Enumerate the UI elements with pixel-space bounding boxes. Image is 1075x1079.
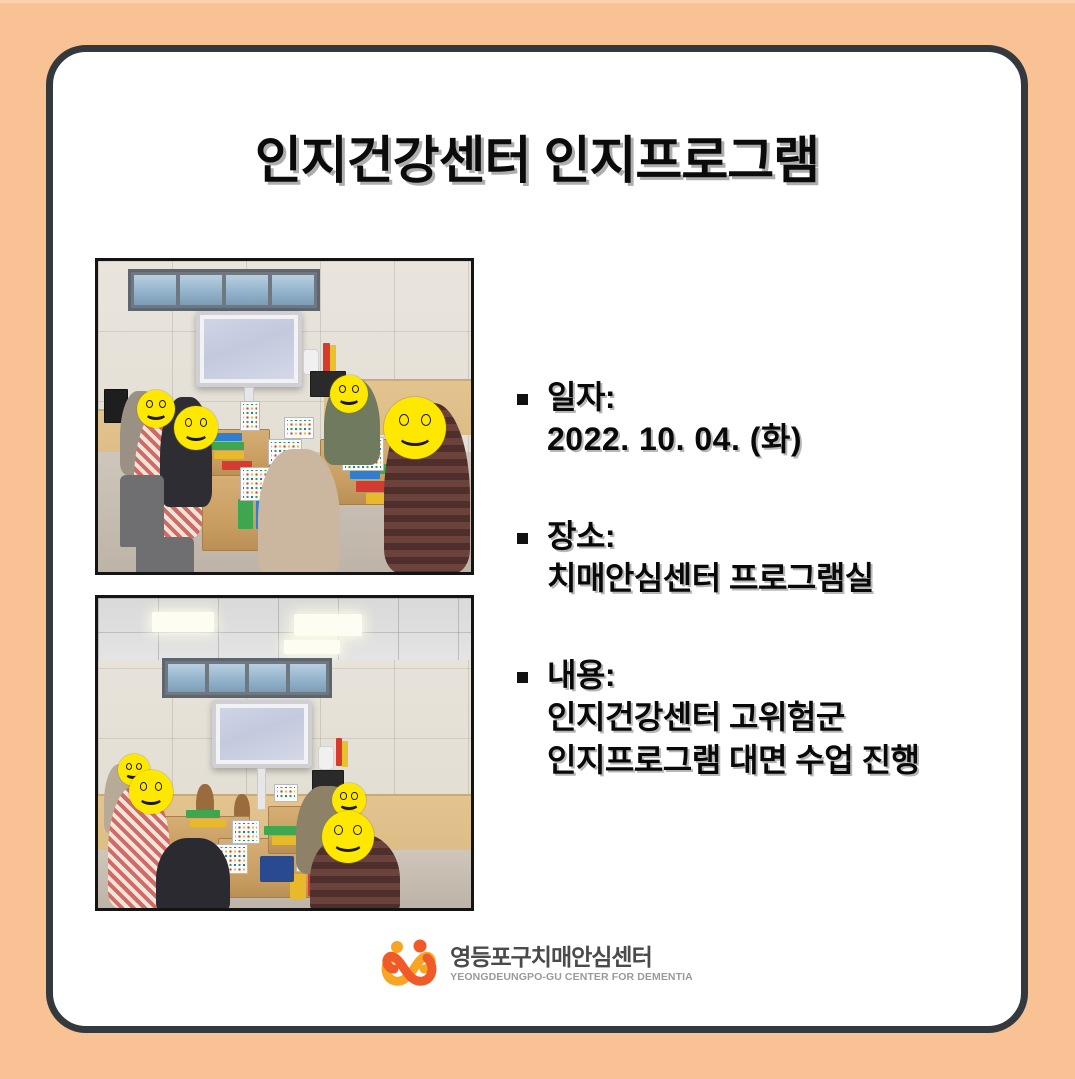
info-block-place: 장소: 치매안심센터 프로그램실 (517, 516, 1007, 599)
chair (136, 537, 194, 572)
ceiling-light (294, 614, 362, 636)
pattern-board (232, 820, 260, 844)
poster-card: 인지건강센터 인지프로그램 (46, 45, 1028, 1033)
logo-name-english: YEONGDEUNGPO-GU CENTER FOR DEMENTIA (450, 971, 693, 983)
info-block-content: 내용: 인지건강센터 고위험군 인지프로그램 대면 수업 진행 (517, 655, 1007, 780)
instrument-bar (264, 826, 298, 835)
display-stand (257, 768, 266, 810)
instrument-rack-2 (342, 741, 348, 767)
face-blur-smiley (330, 375, 368, 413)
face-blur-smiley (384, 397, 446, 459)
info-value-date: 2022. 10. 04. (화) (547, 418, 1007, 460)
info-list: 일자: 2022. 10. 04. (화) 장소: 치매안심센터 프로그램실 내… (517, 377, 1007, 781)
instrument-bar (214, 451, 244, 459)
info-value-content-2: 인지프로그램 대면 수업 진행 (547, 739, 1007, 781)
info-value-content-1: 인지건강센터 고위험군 (547, 696, 1007, 738)
instrument-rack-2 (330, 345, 336, 373)
face-blur-smiley (137, 390, 175, 428)
top-edge-strip (0, 0, 1075, 3)
window-band (162, 658, 332, 698)
instrument-bar (210, 442, 244, 450)
display-screen (196, 311, 302, 387)
participant (258, 449, 340, 572)
speaker (318, 746, 334, 770)
display-screen (212, 700, 312, 768)
info-label-date: 일자: (547, 377, 615, 418)
info-head: 내용: (517, 655, 1007, 696)
classroom-photo-top (95, 258, 474, 575)
ceiling-light (152, 612, 214, 632)
info-label-place: 장소: (547, 516, 615, 557)
window-band (128, 269, 320, 311)
photo-column (95, 258, 475, 911)
logo-name-korean: 영등포구치매안심센터 (450, 945, 693, 971)
pattern-board (274, 784, 298, 802)
bullet-square-icon (517, 533, 528, 544)
pattern-board (284, 417, 314, 439)
info-head: 장소: (517, 516, 1007, 557)
info-lines-date: 2022. 10. 04. (화) (547, 418, 1007, 460)
bullet-square-icon (517, 394, 528, 405)
instrument-bar (238, 499, 253, 529)
instrument-rack (323, 343, 330, 373)
footer-logo: 영등포구치매안심센터 YEONGDEUNGPO-GU CENTER FOR DE… (53, 938, 1021, 988)
dementia-center-logo-icon (381, 938, 437, 988)
logo-text: 영등포구치매안심센터 YEONGDEUNGPO-GU CENTER FOR DE… (450, 943, 693, 984)
info-lines-place: 치매안심센터 프로그램실 (547, 557, 1007, 599)
face-blur-smiley (322, 811, 374, 863)
info-lines-content: 인지건강센터 고위험군 인지프로그램 대면 수업 진행 (547, 696, 1007, 780)
photo-scene-top (98, 261, 471, 572)
participant (156, 838, 230, 908)
info-value-place: 치매안심센터 프로그램실 (547, 557, 1007, 599)
face-blur-smiley (174, 406, 218, 450)
classroom-photo-bottom (95, 595, 474, 911)
photo-scene-bottom (98, 598, 471, 908)
notebook (260, 856, 294, 882)
page-title: 인지건강센터 인지프로그램 (53, 119, 1021, 193)
instrument-bar (186, 810, 220, 818)
ceiling-light (284, 640, 340, 654)
info-label-content: 내용: (547, 655, 615, 696)
bullet-square-icon (517, 672, 528, 683)
face-blur-smiley (129, 770, 173, 814)
instrument-bar (190, 819, 226, 827)
pattern-board (240, 401, 260, 431)
info-head: 일자: (517, 377, 1007, 418)
info-block-date: 일자: 2022. 10. 04. (화) (517, 377, 1007, 460)
